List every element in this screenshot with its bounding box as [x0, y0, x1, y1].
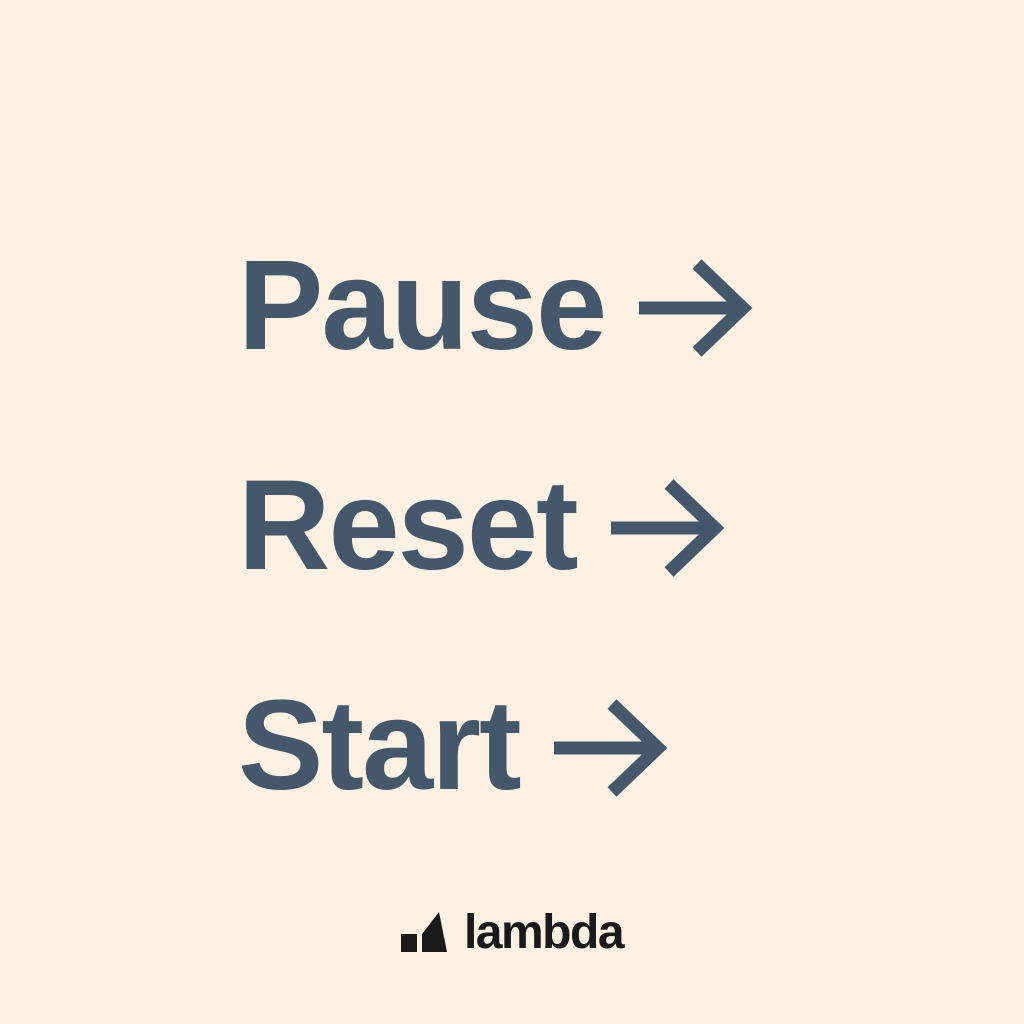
action-list: Pause Reset Start — [238, 196, 938, 856]
lambda-logo: lambda — [0, 908, 1024, 956]
lambda-wordmark: lambda — [464, 909, 623, 957]
arrow-right-icon — [550, 696, 670, 800]
action-item-start[interactable]: Start — [238, 636, 938, 856]
arrow-right-icon — [635, 256, 755, 360]
poster-canvas: Pause Reset Start — [0, 0, 1024, 1024]
action-label-pause: Pause — [238, 242, 605, 370]
action-item-reset[interactable]: Reset — [238, 416, 938, 636]
action-label-start: Start — [238, 682, 520, 810]
lambda-mark-icon — [401, 912, 449, 952]
action-item-pause[interactable]: Pause — [238, 196, 938, 416]
action-label-reset: Reset — [238, 462, 577, 590]
arrow-right-icon — [607, 476, 727, 580]
